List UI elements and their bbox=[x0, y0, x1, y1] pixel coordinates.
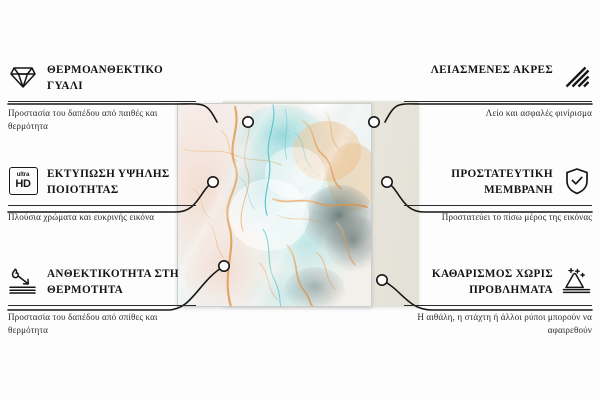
feature-header: ΚΑΘΑΡΙΣΜΟΣ ΧΩΡΙΣ ΠΡΟΒΛΗΜΑΤΑ bbox=[404, 266, 592, 300]
feature-divider bbox=[8, 101, 196, 102]
glass-panel-artwork bbox=[177, 103, 372, 307]
diamond-icon bbox=[8, 62, 38, 92]
feature-header: ultra HD ΕΚΤΥΠΩΣΗ ΥΨΗΛΗΣ ΠΟΙΟΤΗΤΑΣ bbox=[8, 166, 196, 200]
feature-title: ΚΑΘΑΡΙΣΜΟΣ ΧΩΡΙΣ ΠΡΟΒΛΗΜΑΤΑ bbox=[404, 266, 553, 299]
feature-description: Λείο και ασφαλές φινίρισμα bbox=[404, 107, 592, 120]
feature-divider bbox=[404, 205, 592, 206]
shield-check-icon bbox=[562, 166, 592, 196]
ultra-hd-badge-icon: ultra HD bbox=[8, 166, 38, 196]
feature-description: Προστατεύει το πίσω μέρος της εικόνας bbox=[404, 211, 592, 224]
feature-divider bbox=[404, 305, 592, 306]
feature-block-high-quality-print: ultra HD ΕΚΤΥΠΩΣΗ ΥΨΗΛΗΣ ΠΟΙΟΤΗΤΑΣ Πλούσ… bbox=[8, 166, 196, 224]
feature-title: ΕΚΤΥΠΩΣΗ ΥΨΗΛΗΣ ΠΟΙΟΤΗΤΑΣ bbox=[47, 166, 196, 199]
marble-artwork-svg bbox=[177, 103, 372, 307]
feature-title: ΑΝΘΕΚΤΙΚΟΤΗΤΑ ΣΤΗ ΘΕΡΜΟΤΗΤΑ bbox=[47, 266, 196, 299]
product-image-group bbox=[177, 103, 419, 307]
feature-block-easy-cleaning: ΚΑΘΑΡΙΣΜΟΣ ΧΩΡΙΣ ΠΡΟΒΛΗΜΑΤΑ Η αιθάλη, η … bbox=[404, 266, 592, 338]
flame-on-surface-icon bbox=[8, 266, 38, 296]
feature-description: Προστασία του δαπέδου από σπίθες και θερ… bbox=[8, 311, 196, 338]
feature-description: Η αιθάλη, η στάχτη ή άλλοι ρύποι μπορούν… bbox=[404, 311, 592, 338]
feature-header: ΘΕΡΜΟΑΝΘΕΚΤΙΚΟ ΓΥΑΛΙ bbox=[8, 62, 196, 96]
hd-badge-large-text: HD bbox=[15, 179, 30, 190]
feature-block-smooth-edges: ΛΕΙΑΣΜΕΝΕΣ ΑΚΡΕΣ Λείο και ασφαλές φινίρι… bbox=[404, 62, 592, 120]
feature-header: ΑΝΘΕΚΤΙΚΟΤΗΤΑ ΣΤΗ ΘΕΡΜΟΤΗΤΑ bbox=[8, 266, 196, 300]
infographic-canvas: ΘΕΡΜΟΑΝΘΕΚΤΙΚΟ ΓΥΑΛΙ Προστασία του δαπέδ… bbox=[0, 0, 600, 400]
hd-badge-box: ultra HD bbox=[9, 167, 38, 195]
feature-title: ΠΡΟΣΤΑΤΕΥΤΙΚΗ ΜΕΜΒΡΑΝΗ bbox=[404, 166, 553, 199]
feature-block-heat-resistant-glass: ΘΕΡΜΟΑΝΘΕΚΤΙΚΟ ΓΥΑΛΙ Προστασία του δαπέδ… bbox=[8, 62, 196, 134]
diagonal-hatch-icon bbox=[562, 62, 592, 92]
feature-header: ΠΡΟΣΤΑΤΕΥΤΙΚΗ ΜΕΜΒΡΑΝΗ bbox=[404, 166, 592, 200]
feature-divider bbox=[8, 205, 196, 206]
feature-block-heat-durability: ΑΝΘΕΚΤΙΚΟΤΗΤΑ ΣΤΗ ΘΕΡΜΟΤΗΤΑ Προστασία το… bbox=[8, 266, 196, 338]
sparkle-wipe-icon bbox=[562, 266, 592, 296]
feature-block-protective-membrane: ΠΡΟΣΤΑΤΕΥΤΙΚΗ ΜΕΜΒΡΑΝΗ Προστατεύει το πί… bbox=[404, 166, 592, 224]
feature-description: Πλούσια χρώματα και ευκρινής εικόνα bbox=[8, 211, 196, 224]
feature-divider bbox=[8, 305, 196, 306]
feature-description: Προστασία του δαπέδου από παιθές και θερ… bbox=[8, 107, 196, 134]
feature-header: ΛΕΙΑΣΜΕΝΕΣ ΑΚΡΕΣ bbox=[404, 62, 592, 96]
feature-title: ΘΕΡΜΟΑΝΘΕΚΤΙΚΟ ΓΥΑΛΙ bbox=[47, 62, 196, 95]
feature-divider bbox=[404, 101, 592, 102]
feature-title: ΛΕΙΑΣΜΕΝΕΣ ΑΚΡΕΣ bbox=[404, 62, 553, 79]
